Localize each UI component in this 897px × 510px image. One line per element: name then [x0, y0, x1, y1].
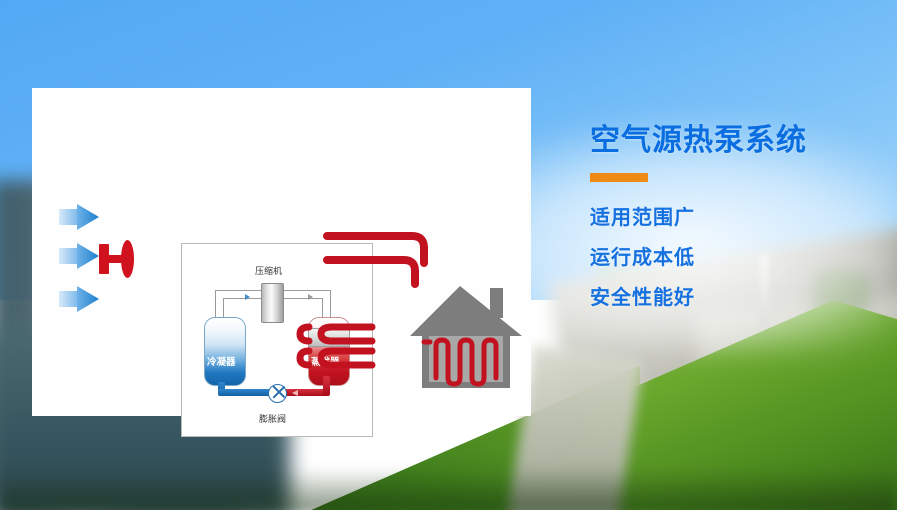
house-icon — [410, 284, 528, 392]
feature-item-3: 安全性能好 — [590, 278, 890, 318]
bottom-vignette — [0, 468, 897, 510]
diagram-card: 压缩机 冷凝器 蒸发器 膨胀阀 — [32, 88, 531, 416]
feature-item-1: 适用范围广 — [590, 198, 890, 238]
feature-item-2: 运行成本低 — [590, 238, 890, 278]
text-panel: 空气源热泵系统 适用范围广 运行成本低 安全性能好 — [590, 122, 890, 318]
title-underline-rule — [590, 173, 648, 182]
slide-root: 空气源热泵系统 适用范围广 运行成本低 安全性能好 — [0, 0, 897, 510]
page-title: 空气源热泵系统 — [590, 122, 890, 160]
